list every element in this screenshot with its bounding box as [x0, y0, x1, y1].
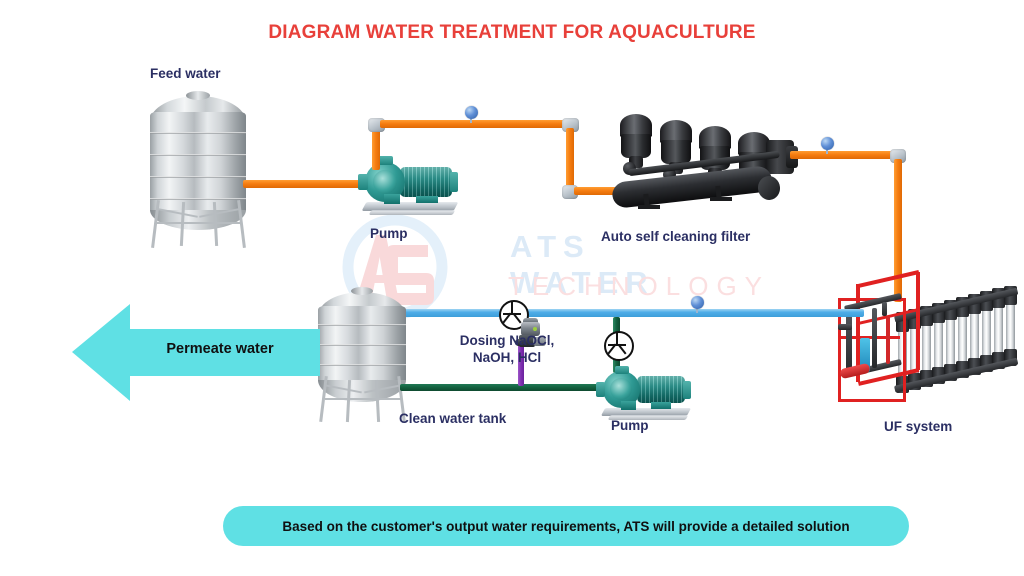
label-uf-system: UF system: [884, 419, 952, 434]
label-auto-self-cleaning-filter: Auto self cleaning filter: [601, 229, 750, 244]
footer-banner: Based on the customer's output water req…: [223, 506, 909, 546]
pump-2: [595, 366, 695, 422]
diagram-canvas: DIAGRAM WATER TREATMENT FOR AQUACULTURE …: [0, 0, 1024, 576]
filter-foot-base-1: [638, 205, 660, 209]
filter-vessel-1: [618, 114, 654, 170]
pipe-permeate-blue: [378, 309, 864, 317]
pressure-gauge-3: [690, 296, 706, 316]
valve-green-riser[interactable]: [604, 331, 634, 361]
permeate-water-arrow: Permeate water: [72, 300, 320, 405]
pipe-clean-water-green: [400, 384, 608, 391]
label-dosing-line2: NaOH, HCl: [447, 349, 567, 366]
pressure-gauge-1: [464, 106, 480, 126]
auto-self-cleaning-filter: [608, 110, 798, 218]
label-feed-water: Feed water: [150, 66, 221, 81]
pressure-gauge-2: [820, 137, 836, 157]
label-dosing-line1: Dosing NaOCl,: [447, 332, 567, 349]
footer-banner-text: Based on the customer's output water req…: [282, 519, 849, 534]
label-pump-2: Pump: [611, 418, 649, 433]
filter-foot-base-2: [710, 197, 732, 201]
pipe-filter-to-uf: [790, 151, 896, 159]
pipe-feed-tank-to-pump: [243, 180, 361, 188]
uf-system: [838, 280, 1018, 415]
permeate-water-label: Permeate water: [120, 341, 320, 357]
label-pump-1: Pump: [370, 226, 408, 241]
clean-tank-stand: [316, 372, 410, 422]
filter-manifold-cap: [757, 175, 782, 201]
pipe-filter-downcomer: [566, 128, 574, 191]
feed-tank-stand: [148, 196, 250, 248]
uf-membrane-bank: [894, 286, 1020, 402]
label-dosing: Dosing NaOCl, NaOH, HCl: [447, 332, 567, 366]
page-title: DIAGRAM WATER TREATMENT FOR AQUACULTURE: [0, 22, 1024, 44]
watermark-line2: TECHNOLOGY: [508, 271, 770, 302]
pipe-pump-riser: [372, 128, 380, 170]
label-clean-water-tank: Clean water tank: [399, 411, 506, 426]
